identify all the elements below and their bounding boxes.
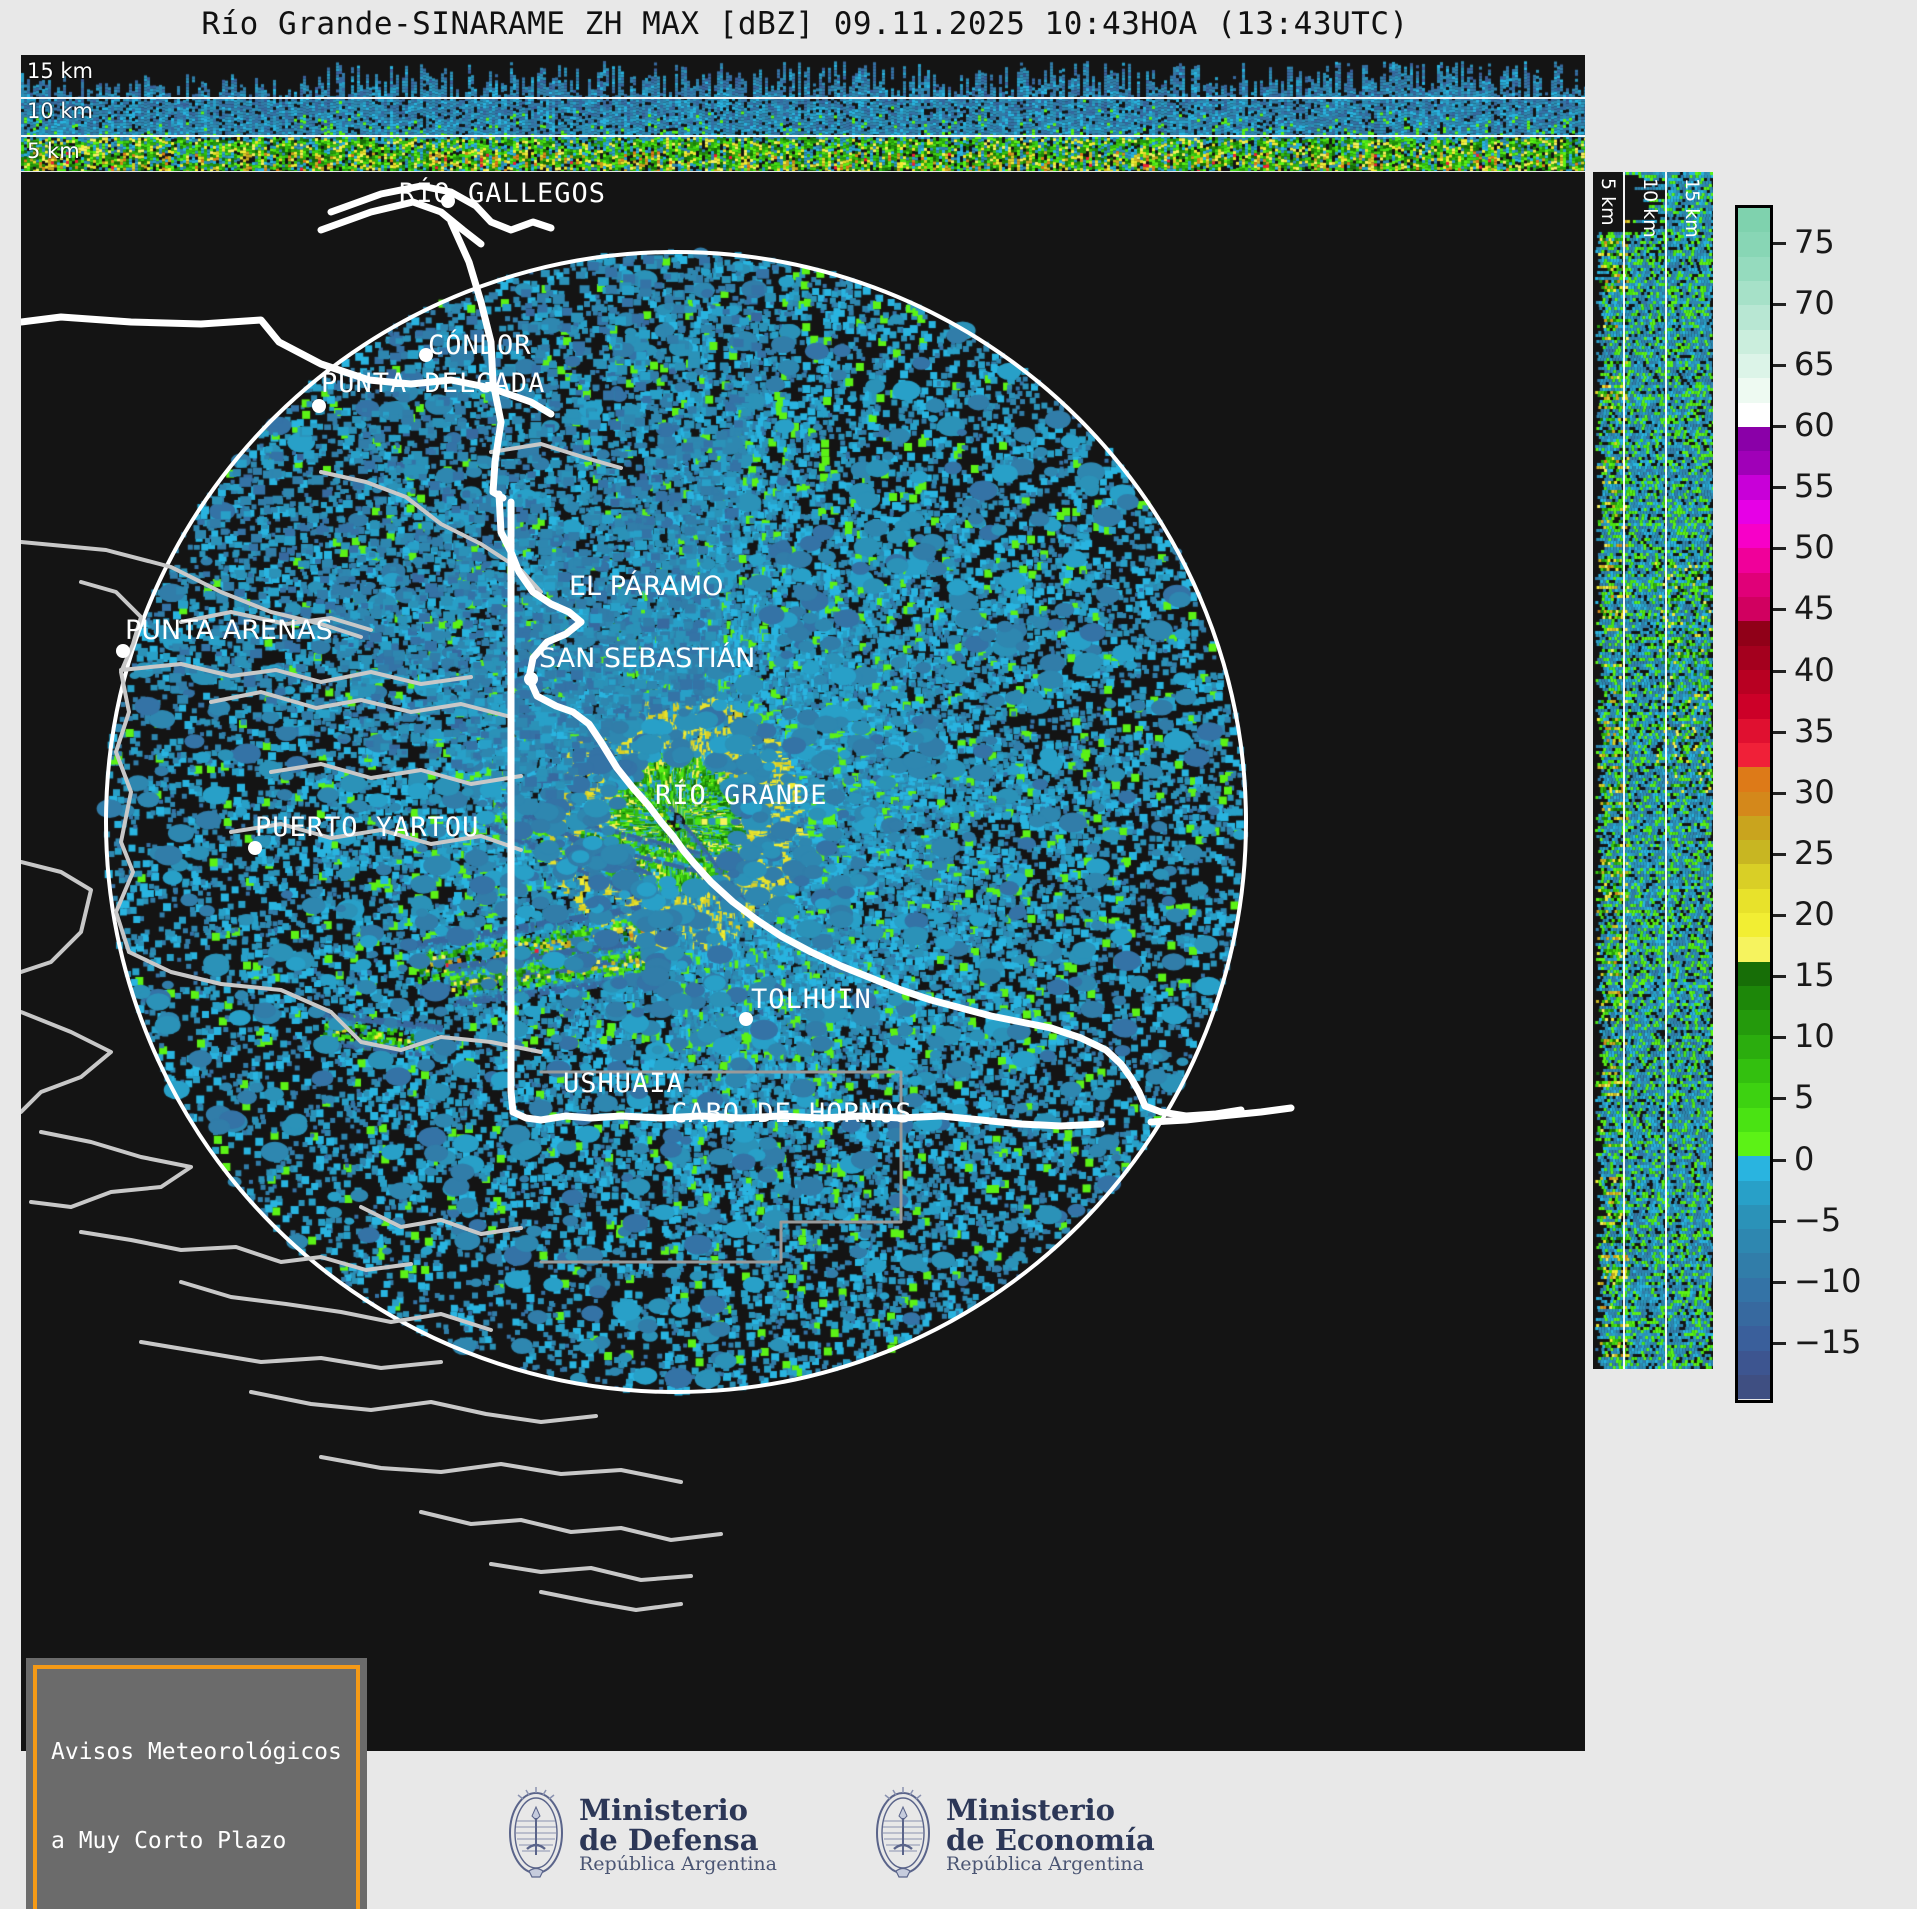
height-label-10km: 10 km: [27, 99, 93, 123]
colorbar-tick-label: 45: [1794, 589, 1835, 627]
warning-badge-inner: Avisos Meteorológicos a Muy Corto Plazo: [33, 1665, 360, 1909]
colorbar-tick: [1773, 303, 1786, 306]
city-marker-dot: [739, 1012, 753, 1026]
colorbar-segment: [1738, 840, 1770, 864]
economia-wordmark: Ministerio de Economía República Argenti…: [946, 1795, 1155, 1876]
colorbar-tick: [1773, 608, 1786, 611]
city-marker-dot: [248, 841, 262, 855]
colorbar-tick-label: 0: [1794, 1140, 1814, 1178]
colorbar-segment: [1738, 719, 1770, 743]
colorbar-tick: [1773, 731, 1786, 734]
colorbar-segment: [1738, 1181, 1770, 1205]
colorbar-segment: [1738, 257, 1770, 281]
colorbar-tick-label: −5: [1794, 1201, 1841, 1239]
colorbar-tick-label: 50: [1794, 528, 1835, 566]
colorbar-tick: [1773, 670, 1786, 673]
radar-plan-view[interactable]: RÍO GALLEGOSCÓNDORPUNTA DELGADAEL PÁRAMO…: [21, 172, 1585, 1751]
city-marker-dot: [524, 672, 538, 686]
colorbar-segment: [1738, 889, 1770, 913]
colorbar-segment: [1738, 694, 1770, 718]
colorbar-segment: [1738, 1229, 1770, 1253]
colorbar-segment: [1738, 1351, 1770, 1375]
colorbar-tick-label: −15: [1794, 1323, 1862, 1361]
colorbar-segment: [1738, 1059, 1770, 1083]
coastline-grey: [21, 444, 901, 1610]
colorbar-segment: [1738, 573, 1770, 597]
colorbar-tick-label: 60: [1794, 406, 1835, 444]
colorbar-segment: [1738, 330, 1770, 354]
map-overlay: [21, 172, 1585, 1751]
colorbar-segment: [1738, 1010, 1770, 1034]
colorbar-segment: [1738, 305, 1770, 329]
colorbar-segment: [1738, 281, 1770, 305]
colorbar-segment: [1738, 767, 1770, 791]
colorbar-tick: [1773, 1097, 1786, 1100]
colorbar-segment: [1738, 1278, 1770, 1302]
height-label-15km: 15 km: [27, 59, 93, 83]
colorbar-tick: [1773, 425, 1786, 428]
colorbar-tick-label: 5: [1794, 1078, 1814, 1116]
colorbar-segment: [1738, 500, 1770, 524]
colorbar-tick-label: −10: [1794, 1262, 1862, 1300]
logo-ministerio-economia: Ministerio de Economía República Argenti…: [872, 1785, 1155, 1885]
colorbar-segment: [1738, 816, 1770, 840]
escudo-nacional-icon-2: [872, 1785, 934, 1885]
colorbar-tick: [1773, 1036, 1786, 1039]
colorbar-segment: [1738, 451, 1770, 475]
city-marker-dot: [419, 348, 433, 362]
top-cross-section-panel: 15 km 10 km 5 km: [21, 55, 1585, 171]
colorbar-tick: [1773, 486, 1786, 489]
colorbar-segment: [1738, 1156, 1770, 1180]
colorbar-segment: [1738, 403, 1770, 427]
logo-ministerio-defensa: Ministerio de Defensa República Argentin…: [505, 1785, 777, 1885]
colorbar-tick-label: 55: [1794, 467, 1835, 505]
colorbar-segment: [1738, 864, 1770, 888]
colorbar-segment: [1738, 427, 1770, 451]
vheight-label-15km: 15 km: [1681, 178, 1703, 238]
colorbar-tick-label: 65: [1794, 345, 1835, 383]
colorbar-tick: [1773, 853, 1786, 856]
colorbar-tick: [1773, 1342, 1786, 1345]
colorbar-segment: [1738, 621, 1770, 645]
economia-line-3: República Argentina: [946, 1855, 1155, 1875]
colorbar-segment: [1738, 524, 1770, 548]
city-marker-dot: [441, 194, 455, 208]
page-title: Río Grande-SINARAME ZH MAX [dBZ] 09.11.2…: [0, 6, 1610, 42]
colorbar-segment: [1738, 232, 1770, 256]
colorbar-segment: [1738, 1132, 1770, 1156]
colorbar-segment: [1738, 1375, 1770, 1399]
colorbar-tick: [1773, 1281, 1786, 1284]
height-label-5km: 5 km: [27, 139, 80, 163]
colorbar-segment: [1738, 743, 1770, 767]
coastline-white: [21, 186, 1291, 1126]
colorbar-tick-label: 35: [1794, 712, 1835, 750]
vheight-label-5km: 5 km: [1597, 178, 1619, 226]
colorbar-segment: [1738, 670, 1770, 694]
colorbar-tick-label: 25: [1794, 834, 1835, 872]
defensa-line-1: Ministerio: [579, 1795, 777, 1825]
colorbar-segment: [1738, 475, 1770, 499]
colorbar-segment: [1738, 1083, 1770, 1107]
colorbar-tick-label: 30: [1794, 773, 1835, 811]
colorbar-segment: [1738, 1302, 1770, 1326]
city-marker-dot: [312, 399, 326, 413]
colorbar-segment: [1738, 1326, 1770, 1350]
vheight-label-10km: 10 km: [1639, 178, 1661, 238]
defensa-line-2: de Defensa: [579, 1825, 777, 1855]
colorbar-tick: [1773, 1159, 1786, 1162]
colorbar-segment: [1738, 354, 1770, 378]
colorbar-tick-label: 15: [1794, 956, 1835, 994]
colorbar-tick: [1773, 364, 1786, 367]
colorbar-segment: [1738, 208, 1770, 232]
colorbar-tick: [1773, 547, 1786, 550]
colorbar-tick-label: 75: [1794, 223, 1835, 261]
defensa-wordmark: Ministerio de Defensa República Argentin…: [579, 1795, 777, 1876]
colorbar-tick-label: 10: [1794, 1017, 1835, 1055]
city-marker-dot: [116, 644, 130, 658]
colorbar-tick: [1773, 1220, 1786, 1223]
warning-badge[interactable]: Avisos Meteorológicos a Muy Corto Plazo: [26, 1658, 367, 1909]
colorbar-segment: [1738, 597, 1770, 621]
colorbar-segment: [1738, 937, 1770, 961]
economia-line-2: de Economía: [946, 1825, 1155, 1855]
colorbar-tick: [1773, 914, 1786, 917]
right-cross-section-panel: 5 km 10 km 15 km: [1593, 172, 1713, 1369]
warning-line-1: Avisos Meteorológicos: [51, 1738, 342, 1768]
colorbar-segment: [1738, 1253, 1770, 1277]
colorbar-segment: [1738, 962, 1770, 986]
defensa-line-3: República Argentina: [579, 1855, 777, 1875]
colorbar-tick-label: 40: [1794, 651, 1835, 689]
colorbar-tick: [1773, 792, 1786, 795]
escudo-nacional-icon: [505, 1785, 567, 1885]
colorbar-tick-label: 20: [1794, 895, 1835, 933]
colorbar-segment: [1738, 646, 1770, 670]
colorbar-segment: [1738, 1035, 1770, 1059]
colorbar-tick: [1773, 242, 1786, 245]
range-ring: [106, 252, 1246, 1392]
colorbar-segment: [1738, 986, 1770, 1010]
colorbar-segment: [1738, 548, 1770, 572]
colorbar-segment: [1738, 1108, 1770, 1132]
colorbar-segment: [1738, 378, 1770, 402]
colorbar-tick-label: 70: [1794, 284, 1835, 322]
colorbar-segment: [1738, 792, 1770, 816]
colorbar-ticks: 757065605550454035302520151050−5−10−15: [1773, 205, 1913, 1403]
economia-line-1: Ministerio: [946, 1795, 1155, 1825]
colorbar: [1735, 205, 1773, 1403]
colorbar-tick: [1773, 975, 1786, 978]
colorbar-segment: [1738, 913, 1770, 937]
colorbar-segment: [1738, 1205, 1770, 1229]
warning-line-2: a Muy Corto Plazo: [51, 1827, 342, 1857]
